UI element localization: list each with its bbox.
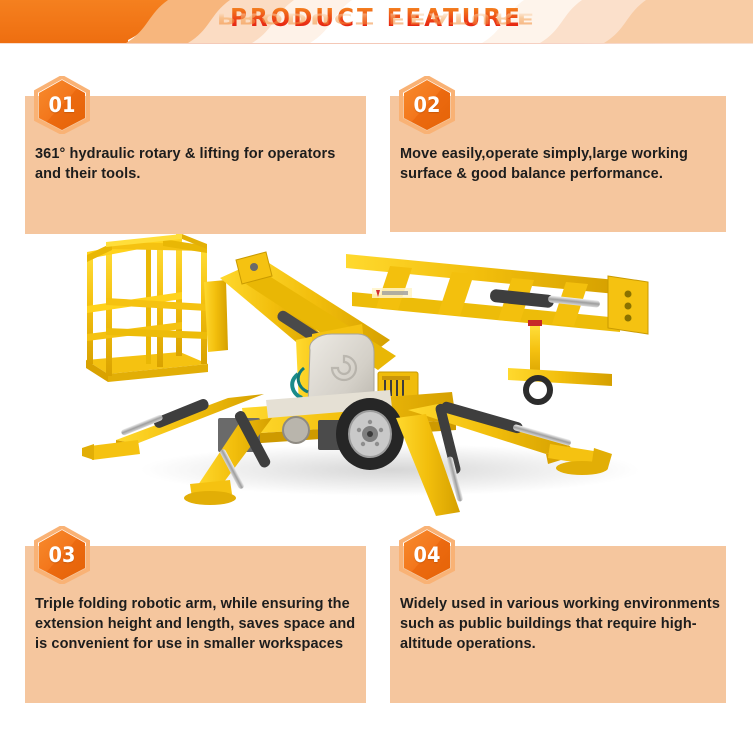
feature-card-text: Move easily,operate simply,large working… xyxy=(400,144,725,184)
feature-badge-number: 01 xyxy=(35,76,88,134)
product-image xyxy=(60,222,700,522)
feature-card-text: Triple folding robotic arm, while ensuri… xyxy=(35,594,365,654)
feature-badge-number: 03 xyxy=(35,526,88,584)
banner-underline xyxy=(0,43,753,44)
feature-card-text: Widely used in various working environme… xyxy=(400,594,725,654)
feature-badge: 01 xyxy=(33,76,91,134)
brand-decal xyxy=(372,288,412,298)
work-platform-cage xyxy=(86,234,228,382)
boom-lift-illustration xyxy=(60,222,700,522)
feature-badge: 04 xyxy=(398,526,456,584)
feature-card-text: 361° hydraulic rotary & lifting for oper… xyxy=(35,144,360,184)
feature-badge-number: 04 xyxy=(400,526,453,584)
header-banner: PRODUCT FEATURE PRODUCT FEATURE xyxy=(0,0,753,44)
feature-badge: 03 xyxy=(33,526,91,584)
feature-badge: 02 xyxy=(398,76,456,134)
trailer-wheel xyxy=(336,398,404,470)
feature-badge-number: 02 xyxy=(400,76,453,134)
banner-wave-graphic xyxy=(0,0,753,44)
product-feature-page: PRODUCT FEATURE PRODUCT FEATURE xyxy=(0,0,753,735)
